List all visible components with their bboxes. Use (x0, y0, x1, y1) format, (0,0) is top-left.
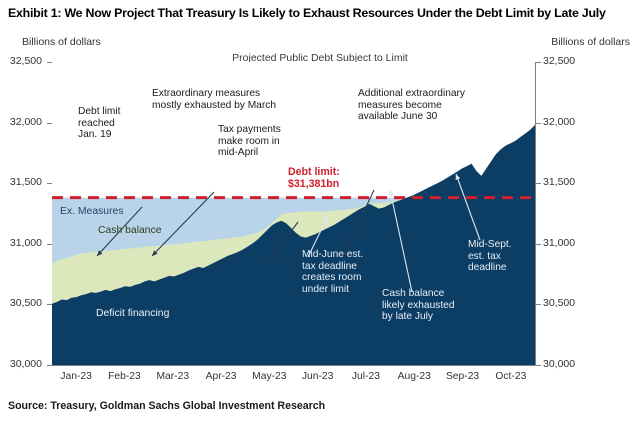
series-label-deficit-financing: Deficit financing (96, 308, 169, 319)
series-label-cash-balance: Cash balance (98, 225, 162, 236)
y-axis-right (535, 62, 536, 366)
y-tick-r-30000 (536, 365, 541, 366)
debt-limit-label-text: Debt limit: (288, 166, 340, 178)
y-tick-r-30500 (536, 304, 541, 305)
page-title: Exhibit 1: We Now Project That Treasury … (8, 6, 636, 20)
annotation-additional-measures-june-30: Additional extraordinary measures become… (358, 88, 465, 123)
right-axis-unit-label: Billions of dollars (551, 36, 630, 48)
y-axis-label-r-31000: 31,000 (543, 238, 575, 248)
x-axis-label-oct-23: Oct-23 (483, 371, 539, 382)
y-axis-label-l-31500: 31,500 (10, 177, 42, 187)
y-tick-r-31000 (536, 244, 541, 245)
y-tick-l-30500 (47, 304, 52, 305)
debt-limit-value: $31,381bn (288, 178, 339, 190)
y-tick-r-32500 (536, 62, 541, 63)
y-tick-r-32000 (536, 123, 541, 124)
y-axis-label-r-32000: 32,000 (543, 117, 575, 127)
debt-limit-label: Debt limit:$31,381bn (288, 166, 340, 190)
y-axis-label-l-32000: 32,000 (10, 117, 42, 127)
annotation-tax-payments-mid-april: Tax payments make room in mid-April (218, 124, 281, 159)
y-tick-r-31500 (536, 183, 541, 184)
y-axis-label-l-32500: 32,500 (10, 56, 42, 66)
y-axis-label-r-30000: 30,000 (543, 359, 575, 369)
annotation-extraordinary-measures-exhausted: Extraordinary measures mostly exhausted … (152, 88, 276, 111)
y-tick-l-30000 (47, 365, 52, 366)
annotation-cash-balance-exhausted: Cash balance likely exhausted by late Ju… (382, 288, 455, 323)
annotation-mid-june-tax-deadline: Mid-June est. tax deadline creates room … (302, 249, 363, 295)
annotation-debt-limit-reached: Debt limit reached Jan. 19 (78, 106, 120, 141)
y-axis-label-l-30500: 30,500 (10, 298, 42, 308)
x-axis (52, 365, 536, 366)
y-tick-l-32000 (47, 123, 52, 124)
y-axis-label-l-30000: 30,000 (10, 359, 42, 369)
source-note: Source: Treasury, Goldman Sachs Global I… (8, 400, 325, 412)
series-label-ex-measures: Ex. Measures (60, 206, 124, 217)
annotation-mid-sept-tax-deadline: Mid-Sept. est. tax deadline (468, 239, 512, 274)
y-axis-label-r-30500: 30,500 (543, 298, 575, 308)
y-tick-l-31000 (47, 244, 52, 245)
chart-page: Exhibit 1: We Now Project That Treasury … (0, 0, 640, 427)
y-tick-l-31500 (47, 183, 52, 184)
y-tick-l-32500 (47, 62, 52, 63)
left-axis-unit-label: Billions of dollars (22, 36, 101, 48)
y-axis-label-r-31500: 31,500 (543, 177, 575, 187)
y-axis-label-l-31000: 31,000 (10, 238, 42, 248)
y-axis-label-r-32500: 32,500 (543, 56, 575, 66)
